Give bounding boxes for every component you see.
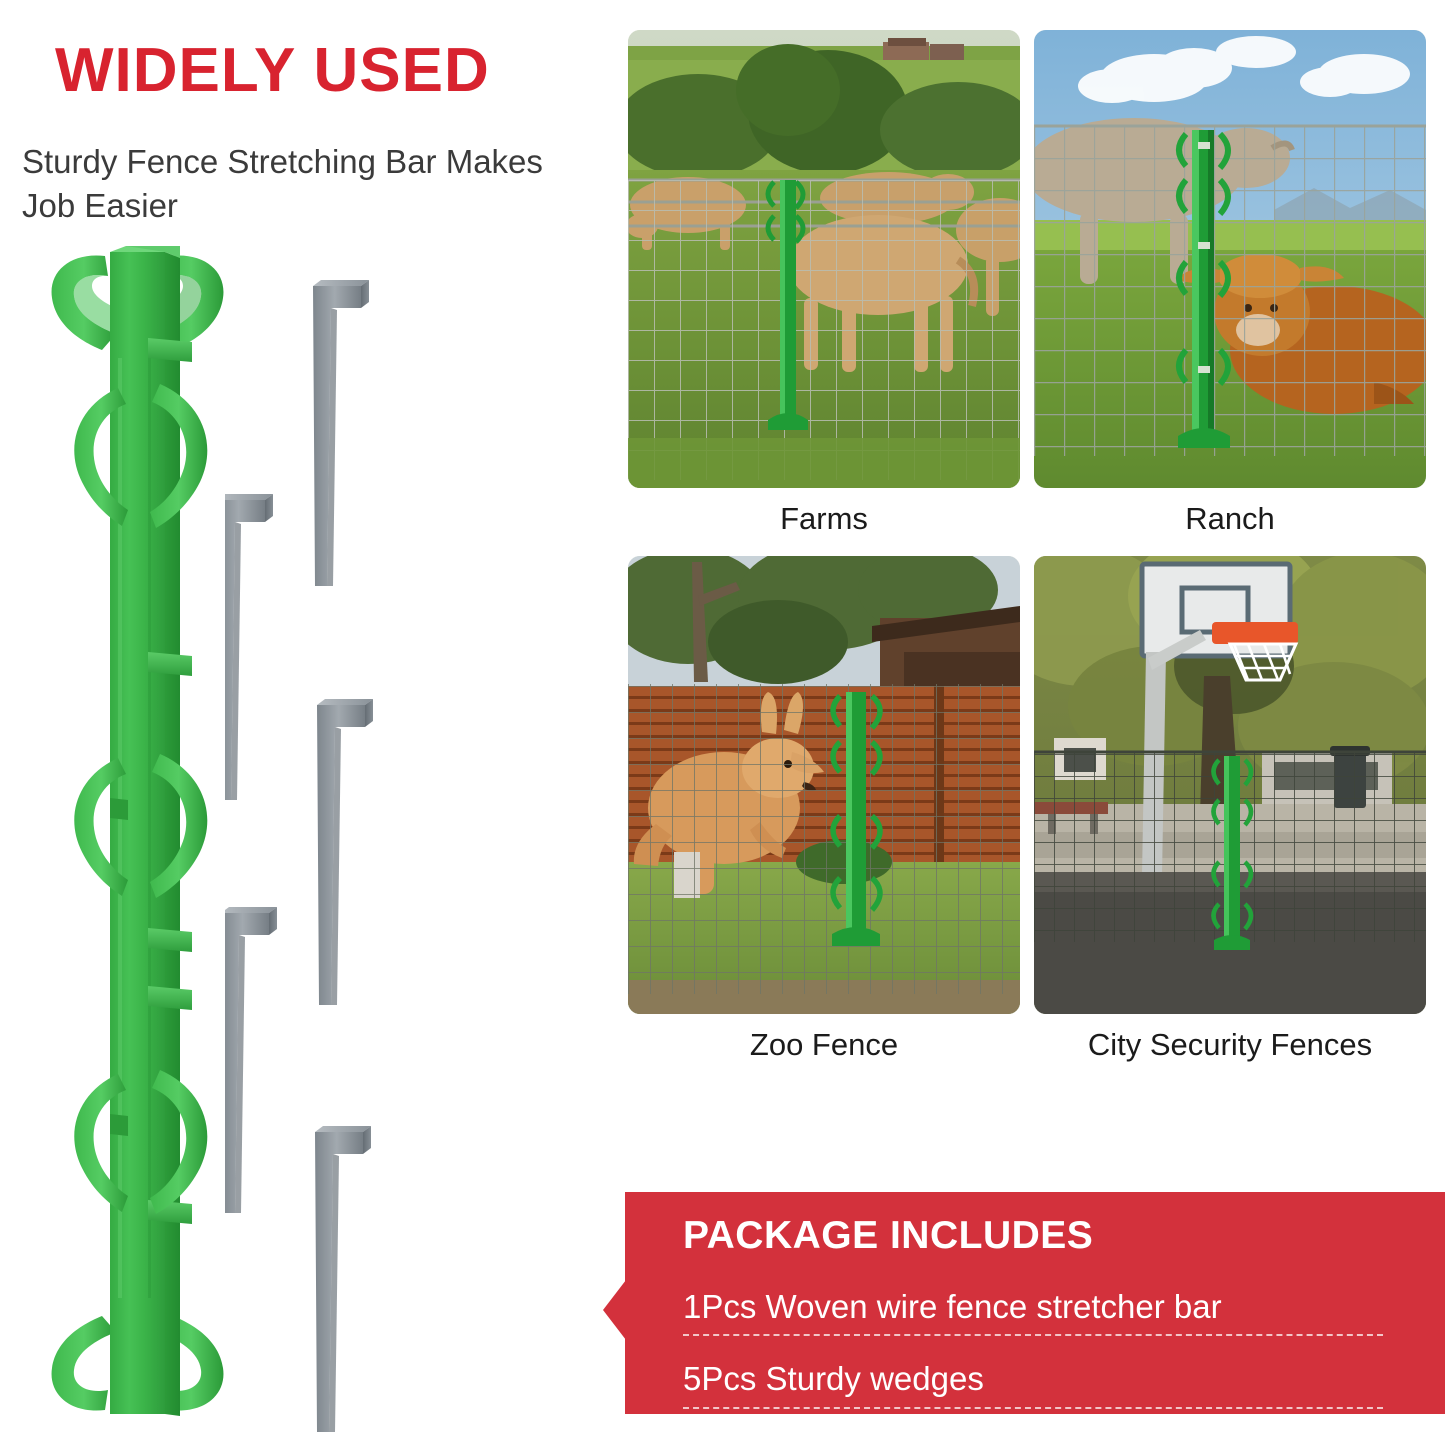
bar-top-crown (52, 246, 224, 370)
photo-zoo-fence[interactable] (628, 556, 1020, 1014)
wedge-4 (225, 907, 277, 1213)
photo-farms[interactable] (628, 30, 1020, 488)
package-item-1: 1Pcs Woven wire fence stretcher bar (683, 1286, 1445, 1334)
package-divider-2 (683, 1407, 1383, 1409)
package-includes-banner: PACKAGE INCLUDES 1Pcs Woven wire fence s… (625, 1192, 1445, 1414)
gallery-caption-ranch: Ranch (1034, 502, 1426, 536)
bar-bottom-foot (52, 1298, 224, 1416)
wedge-5 (315, 1126, 371, 1432)
gallery-caption-zoo-fence: Zoo Fence (628, 1028, 1020, 1062)
infographic-page: WIDELY USED Sturdy Fence Stretching Bar … (0, 0, 1445, 1445)
wedge-3 (317, 699, 373, 1005)
wedge-1 (313, 280, 369, 586)
product-wedges-group (225, 250, 395, 1435)
application-gallery: Farms (628, 30, 1428, 1062)
banner-notch-arrow (603, 1280, 626, 1340)
package-item-2: 5Pcs Sturdy wedges (683, 1358, 1445, 1406)
page-title: WIDELY USED (55, 38, 490, 103)
gallery-item-ranch[interactable]: Ranch (1034, 30, 1426, 536)
photo-ranch[interactable] (1034, 30, 1426, 488)
page-subtitle: Sturdy Fence Stretching Bar Makes Job Ea… (22, 140, 562, 227)
gallery-caption-farms: Farms (628, 502, 1020, 536)
photo-city-security-fences[interactable] (1034, 556, 1426, 1014)
wedge-2 (225, 494, 273, 800)
gallery-caption-city-security-fences: City Security Fences (1034, 1028, 1426, 1062)
package-includes-title: PACKAGE INCLUDES (683, 1214, 1445, 1258)
gallery-item-farms[interactable]: Farms (628, 30, 1020, 536)
package-divider-1 (683, 1334, 1383, 1336)
gallery-item-zoo-fence[interactable]: Zoo Fence (628, 556, 1020, 1062)
gallery-item-city-security-fences[interactable]: City Security Fences (1034, 556, 1426, 1062)
product-stretcher-bar (30, 238, 245, 1428)
